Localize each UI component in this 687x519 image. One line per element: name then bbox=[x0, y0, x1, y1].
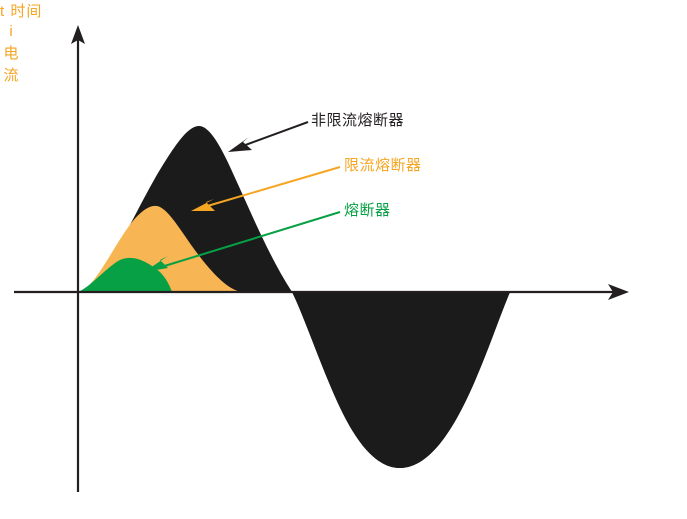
callout-line-nonlimiting bbox=[240, 122, 308, 147]
callout-label-limiting: 限流熔断器 bbox=[344, 157, 422, 176]
callout-label-nonlimiting: 非限流熔断器 bbox=[311, 112, 404, 131]
callout-label-fuse: 熔断器 bbox=[344, 202, 391, 221]
figure-canvas: 非限流熔断器 限流熔断器 熔断器 t 时间 i 电 流 bbox=[0, 0, 687, 519]
current-limiting-fuse-diagram bbox=[0, 0, 687, 519]
series-area-nonlimiting-trough bbox=[292, 292, 510, 468]
